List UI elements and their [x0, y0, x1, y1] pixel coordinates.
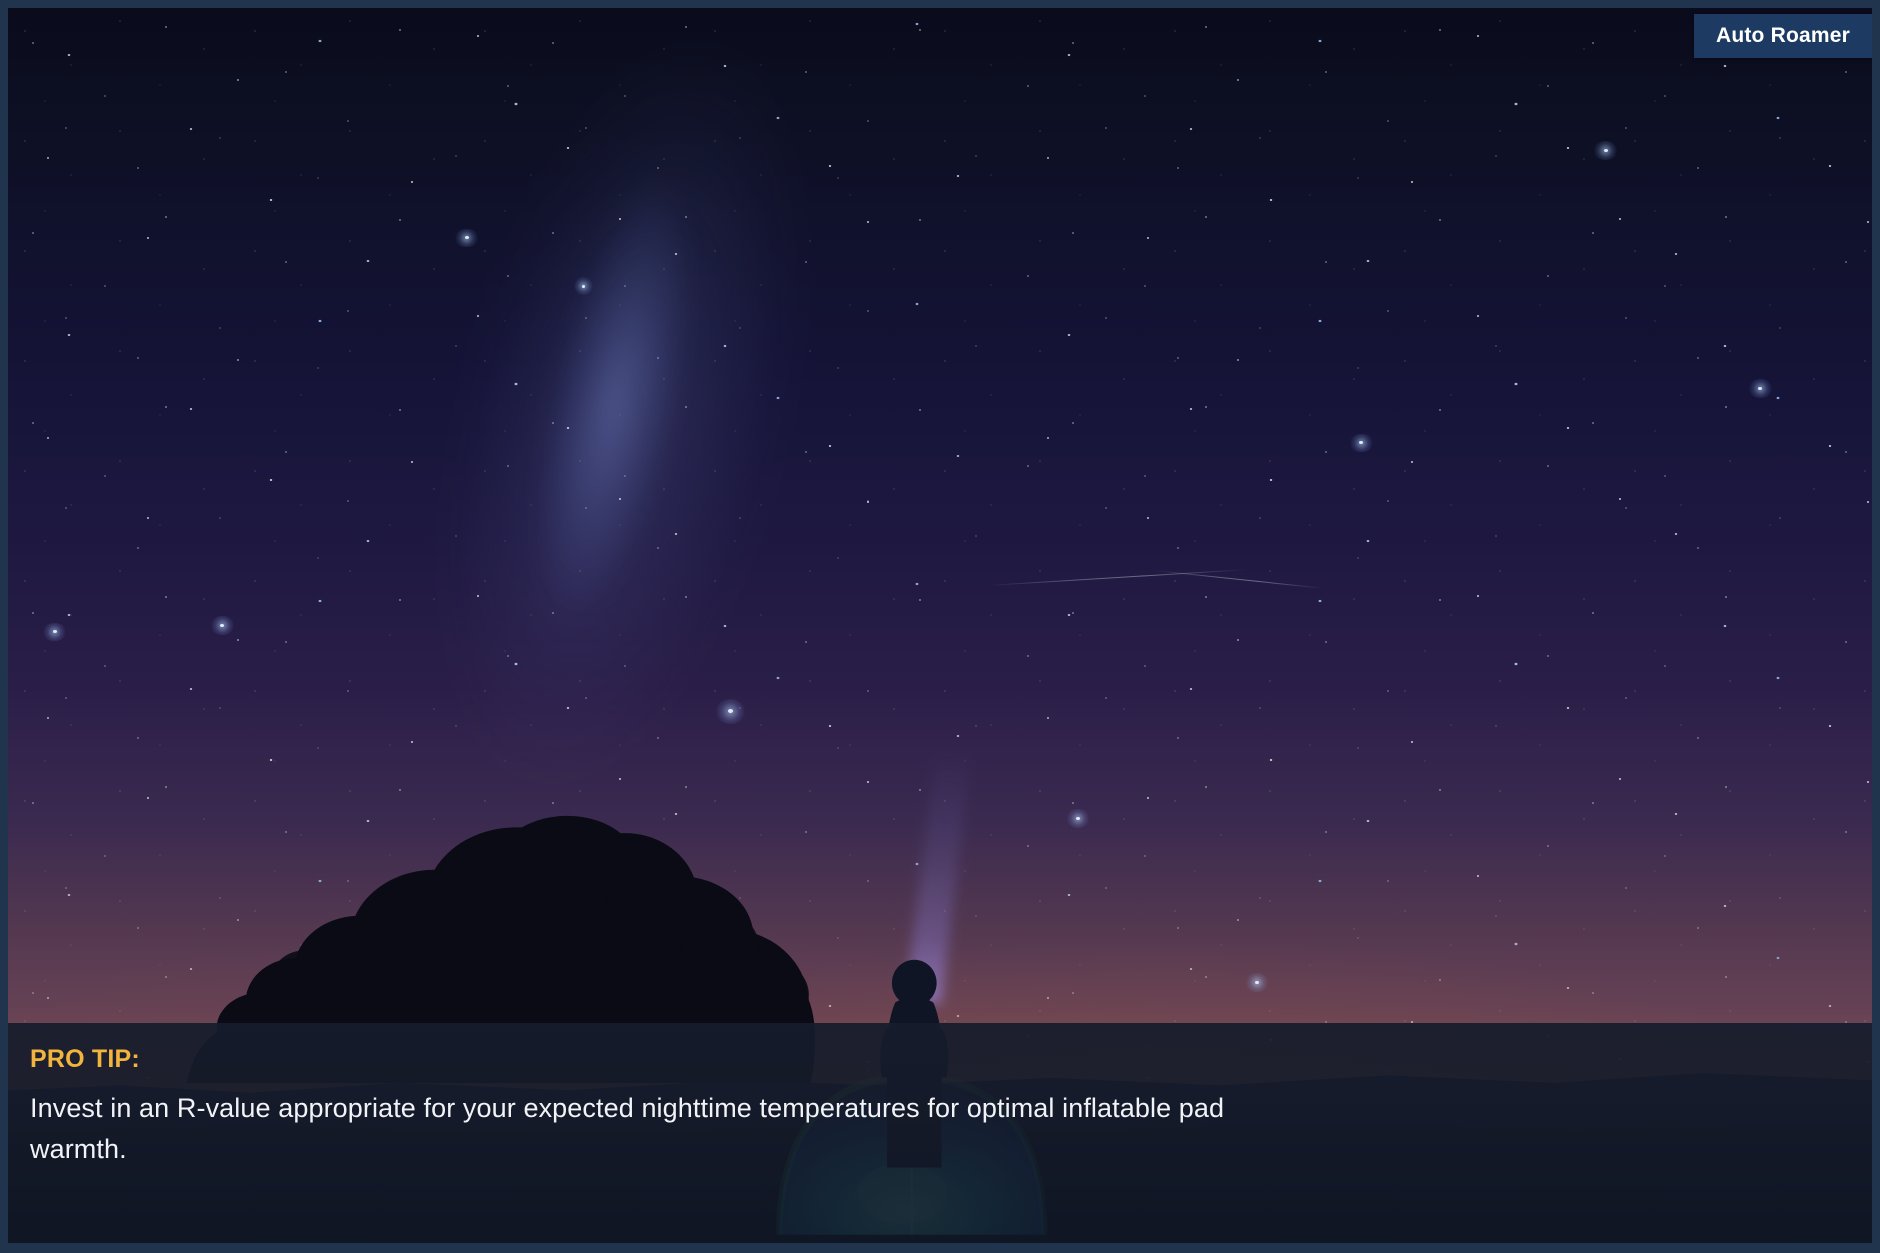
auto-roamer-button[interactable]: Auto Roamer [1694, 14, 1872, 58]
pro-tip-label: PRO TIP: [30, 1045, 1850, 1074]
pro-tip-text: Invest in an R-value appropriate for you… [30, 1088, 1280, 1170]
bright-star [1604, 149, 1608, 152]
bright-star [1758, 387, 1762, 390]
bright-star [728, 709, 733, 713]
bright-star [53, 630, 57, 633]
bright-star [220, 624, 224, 627]
bright-star [1076, 817, 1080, 820]
bright-star [582, 285, 585, 288]
photo-stage: PRO TIP: Invest in an R-value appropriat… [8, 8, 1872, 1243]
pro-tip-overlay: PRO TIP: Invest in an R-value appropriat… [8, 1023, 1872, 1243]
bright-star [465, 236, 469, 239]
app-frame: PRO TIP: Invest in an R-value appropriat… [0, 0, 1880, 1253]
bright-star [1359, 441, 1363, 444]
